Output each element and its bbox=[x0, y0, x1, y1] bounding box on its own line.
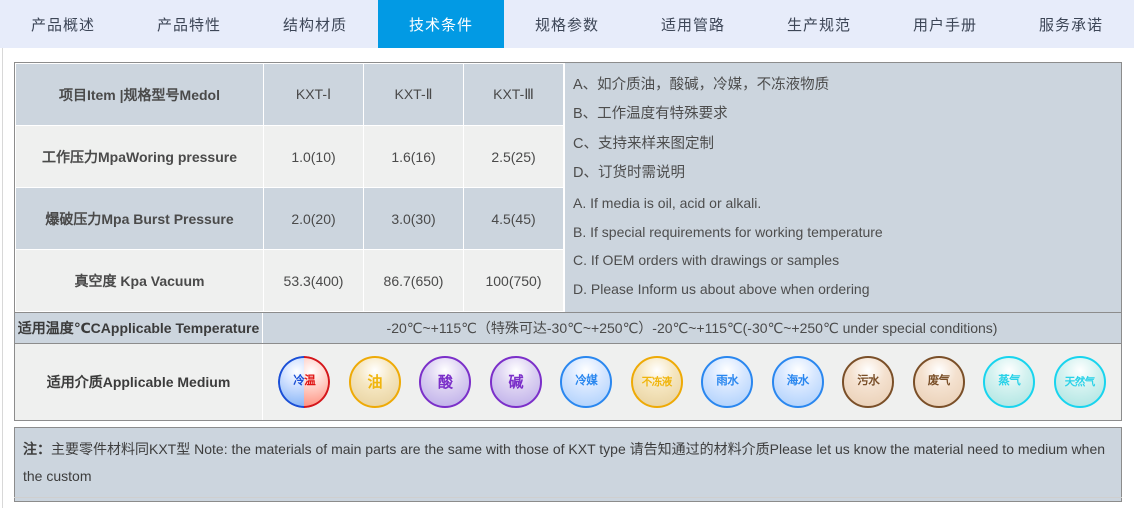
note-cn-a: A、如介质油，酸碱，冷媒，不冻液物质 bbox=[573, 78, 1115, 93]
medium-bubble-label: 不冻液 bbox=[642, 377, 672, 388]
cell-burst-pressure-3: 4.5(45) bbox=[464, 188, 564, 250]
table-row: 真空度 Kpa Vacuum 53.3(400) 86.7(650) 100(7… bbox=[16, 250, 564, 312]
note-en-c: C. If OEM orders with drawings or sample… bbox=[573, 253, 1115, 268]
medium-bubble-11: 蒸气 bbox=[983, 356, 1035, 408]
side-notes-panel: A、如介质油，酸碱，冷媒，不冻液物质 B、工作温度有特殊要求 C、支持来样来图定… bbox=[564, 63, 1121, 312]
tab-product-overview[interactable]: 产品概述 bbox=[0, 0, 126, 48]
specification-table: 项目Item |规格型号Medol KXT-Ⅰ KXT-Ⅱ KXT-Ⅲ 工作压力… bbox=[15, 63, 564, 312]
cell-working-pressure-2: 1.6(16) bbox=[364, 126, 464, 188]
header-model-2: KXT-Ⅱ bbox=[364, 64, 464, 126]
cell-burst-pressure-1: 2.0(20) bbox=[264, 188, 364, 250]
footer-note-text: 主要零件材料同KXT型 Note: the materials of main … bbox=[23, 441, 1105, 484]
note-cn-b: B、工作温度有特殊要求 bbox=[573, 107, 1115, 122]
medium-bubble-5: 冷媒 bbox=[560, 356, 612, 408]
cell-vacuum-2: 86.7(650) bbox=[364, 250, 464, 312]
medium-bubble-10: 废气 bbox=[913, 356, 965, 408]
applicable-medium-label: 适用介质Applicable Medium bbox=[15, 344, 263, 420]
medium-bubble-list: 冷温油酸碱冷媒不冻液雨水海水污水废气蒸气天然气 bbox=[263, 344, 1121, 420]
table-header-row: 项目Item |规格型号Medol KXT-Ⅰ KXT-Ⅱ KXT-Ⅲ bbox=[16, 64, 564, 126]
tab-technical-conditions[interactable]: 技术条件 bbox=[378, 0, 504, 48]
technical-content: 项目Item |规格型号Medol KXT-Ⅰ KXT-Ⅱ KXT-Ⅲ 工作压力… bbox=[14, 62, 1122, 502]
bottom-divider bbox=[14, 497, 1122, 498]
table-row: 工作压力MpaWoring pressure 1.0(10) 1.6(16) 2… bbox=[16, 126, 564, 188]
medium-bubble-label: 雨水 bbox=[716, 376, 738, 388]
footer-note: 注：主要零件材料同KXT型 Note: the materials of mai… bbox=[14, 427, 1122, 502]
cell-working-pressure-1: 1.0(10) bbox=[264, 126, 364, 188]
medium-bubble-label: 污水 bbox=[857, 376, 879, 388]
cell-vacuum-3: 100(750) bbox=[464, 250, 564, 312]
row-label-working-pressure: 工作压力MpaWoring pressure bbox=[16, 126, 264, 188]
medium-bubble-label: 天然气 bbox=[1065, 377, 1095, 388]
medium-bubble-12: 天然气 bbox=[1054, 356, 1106, 408]
applicable-temperature-row: 适用温度℃CApplicable Temperature -20℃~+115℃（… bbox=[14, 313, 1122, 344]
row-label-burst-pressure: 爆破压力Mpa Burst Pressure bbox=[16, 188, 264, 250]
medium-bubble-4: 碱 bbox=[490, 356, 542, 408]
cell-burst-pressure-2: 3.0(30) bbox=[364, 188, 464, 250]
note-en-d: D. Please Inform us about above when ord… bbox=[573, 282, 1115, 297]
medium-bubble-2: 油 bbox=[349, 356, 401, 408]
technical-conditions-page: 产品概述 产品特性 结构材质 技术条件 规格参数 适用管路 生产规范 用户手册 … bbox=[0, 0, 1134, 510]
medium-bubble-label: 废气 bbox=[928, 376, 950, 388]
medium-bubble-6: 不冻液 bbox=[631, 356, 683, 408]
note-en-a: A. If media is oil, acid or alkali. bbox=[573, 196, 1115, 211]
product-tab-bar: 产品概述 产品特性 结构材质 技术条件 规格参数 适用管路 生产规范 用户手册 … bbox=[0, 0, 1134, 48]
note-en-b: B. If special requirements for working t… bbox=[573, 225, 1115, 240]
medium-bubble-1: 冷温 bbox=[278, 356, 330, 408]
cell-vacuum-1: 53.3(400) bbox=[264, 250, 364, 312]
tab-production-standard[interactable]: 生产规范 bbox=[756, 0, 882, 48]
spec-and-notes-block: 项目Item |规格型号Medol KXT-Ⅰ KXT-Ⅱ KXT-Ⅲ 工作压力… bbox=[14, 62, 1122, 313]
medium-bubble-3: 酸 bbox=[419, 356, 471, 408]
note-cn-c: C、支持来样来图定制 bbox=[573, 137, 1115, 152]
medium-bubble-label: 海水 bbox=[787, 376, 809, 388]
header-model-3: KXT-Ⅲ bbox=[464, 64, 564, 126]
medium-bubble-8: 海水 bbox=[772, 356, 824, 408]
medium-bubble-9: 污水 bbox=[842, 356, 894, 408]
applicable-medium-row: 适用介质Applicable Medium 冷温油酸碱冷媒不冻液雨水海水污水废气… bbox=[14, 344, 1122, 421]
medium-bubble-label: 碱 bbox=[508, 375, 523, 390]
medium-bubble-label: 冷温 bbox=[293, 376, 315, 388]
applicable-temperature-label: 适用温度℃CApplicable Temperature bbox=[15, 313, 263, 343]
medium-bubble-label: 冷媒 bbox=[575, 376, 597, 388]
header-item-label: 项目Item |规格型号Medol bbox=[16, 64, 264, 126]
footer-note-prefix: 注： bbox=[23, 441, 51, 457]
tab-specifications[interactable]: 规格参数 bbox=[504, 0, 630, 48]
medium-bubble-label: 油 bbox=[367, 375, 382, 390]
applicable-temperature-value: -20℃~+115℃（特殊可达-30℃~+250℃）-20℃~+115℃(-30… bbox=[263, 313, 1121, 343]
row-label-vacuum: 真空度 Kpa Vacuum bbox=[16, 250, 264, 312]
tab-structure-material[interactable]: 结构材质 bbox=[252, 0, 378, 48]
note-cn-d: D、订货时需说明 bbox=[573, 166, 1115, 181]
cell-working-pressure-3: 2.5(25) bbox=[464, 126, 564, 188]
table-row: 爆破压力Mpa Burst Pressure 2.0(20) 3.0(30) 4… bbox=[16, 188, 564, 250]
header-model-1: KXT-Ⅰ bbox=[264, 64, 364, 126]
medium-bubble-label: 酸 bbox=[438, 375, 453, 390]
medium-bubble-label: 蒸气 bbox=[998, 376, 1020, 388]
tab-product-features[interactable]: 产品特性 bbox=[126, 0, 252, 48]
tab-service-commitment[interactable]: 服务承诺 bbox=[1008, 0, 1134, 48]
tab-applicable-pipeline[interactable]: 适用管路 bbox=[630, 0, 756, 48]
medium-bubble-7: 雨水 bbox=[701, 356, 753, 408]
tab-user-manual[interactable]: 用户手册 bbox=[882, 0, 1008, 48]
left-rail-divider bbox=[2, 48, 3, 508]
